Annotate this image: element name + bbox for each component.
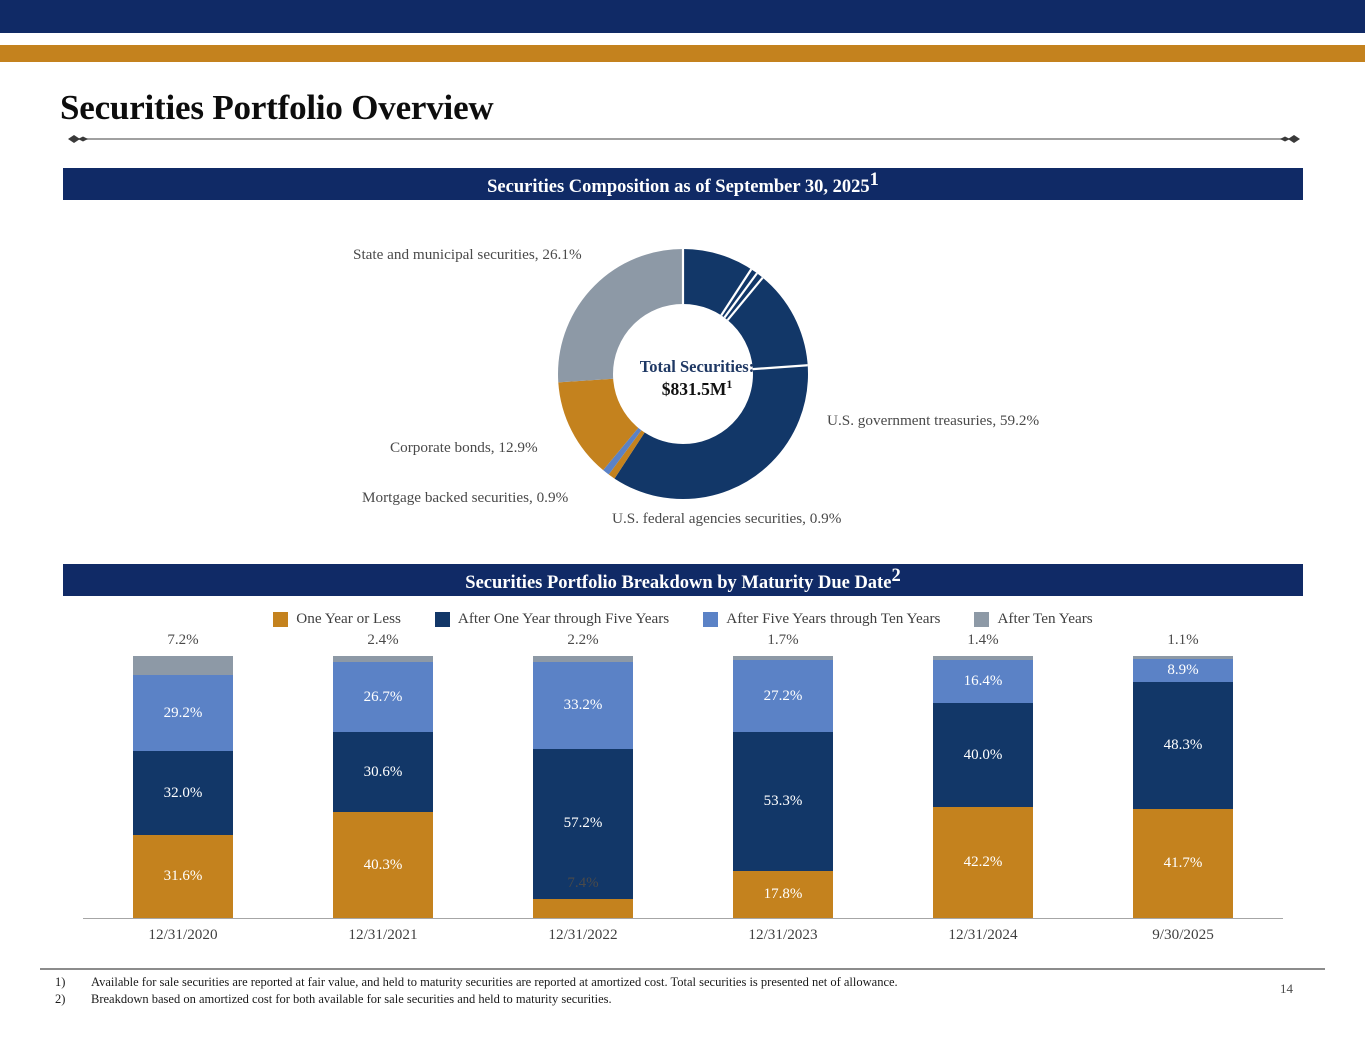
bar-segment-label-5-2: 8.9% [1167,662,1198,679]
footnote-2: 2)Breakdown based on amortized cost for … [55,992,1105,1007]
donut-label-us-federal-agencies-securities: U.S. federal agencies securities, 0.9% [612,510,841,528]
bar-segment-label-4-2: 16.4% [964,673,1003,690]
page-number: 14 [1280,981,1293,997]
stacked-bar-0: 7.2%29.2%32.0%31.6% [133,656,233,918]
footnote-marker-1: 1 [870,170,879,190]
bar-segment-1-1[interactable]: 30.6% [333,732,433,812]
title-divider-rule [68,133,1300,145]
bar-segment-3-0[interactable]: 17.8% [733,871,833,918]
bar-column-5[interactable]: 1.1%8.9%48.3%41.7% [1083,630,1283,918]
legend-label-0: One Year or Less [296,610,401,628]
donut-center-value: $831.5M1 [627,377,767,400]
donut-label-us-government-treasuries: U.S. government treasuries, 59.2% [827,412,1039,430]
securities-composition-donut-chart: Total Securities: $831.5M1 State and mun… [0,230,1365,540]
bar-column-4[interactable]: 1.4%16.4%40.0%42.2% [883,630,1083,918]
legend-swatch-2 [703,612,718,627]
section-header-maturity: Securities Portfolio Breakdown by Maturi… [63,564,1303,596]
section-header-composition-label: Securities Composition as of September 3… [487,170,879,198]
legend-swatch-1 [435,612,450,627]
x-axis-line [83,918,1283,919]
x-axis-label-4: 12/31/2024 [883,926,1083,944]
bar-segment-0-2[interactable]: 29.2% [133,675,233,752]
bar-segment-label-1-1: 30.6% [364,764,403,781]
legend-swatch-0 [273,612,288,627]
top-gold-band [0,45,1365,62]
bar-segment-label-2-2: 33.2% [564,697,603,714]
x-axis-label-1: 12/31/2021 [283,926,483,944]
x-axis-label-5: 9/30/2025 [1083,926,1283,944]
stacked-bar-5: 1.1%8.9%48.3%41.7% [1133,656,1233,918]
bar-segment-label-5-0: 41.7% [1164,855,1203,872]
footnote-marker-1b: 1 [726,377,732,391]
bar-segment-3-1[interactable]: 53.3% [733,732,833,872]
bar-segment-1-2[interactable]: 26.7% [333,662,433,732]
x-axis-label-2: 12/31/2022 [483,926,683,944]
bar-segment-label-2-3: 2.2% [567,632,598,649]
bar-segment-2-0[interactable]: 7.4% [533,899,633,918]
donut-center-total: Total Securities: $831.5M1 [627,356,767,400]
legend-item-0[interactable]: One Year or Less [273,610,401,628]
bar-segment-label-0-2: 29.2% [164,705,203,722]
stacked-bar-3: 1.7%27.2%53.3%17.8% [733,656,833,918]
bar-segment-3-2[interactable]: 27.2% [733,660,833,731]
bar-segment-label-4-0: 42.2% [964,854,1003,871]
bar-segment-label-0-3: 7.2% [167,632,198,649]
x-axis-label-0: 12/31/2020 [83,926,283,944]
bar-segment-label-5-1: 48.3% [1164,737,1203,754]
bar-segment-label-0-1: 32.0% [164,785,203,802]
bar-segment-label-4-3: 1.4% [967,632,998,649]
bar-column-1[interactable]: 2.4%26.7%30.6%40.3% [283,630,483,918]
footnote-1: 1)Available for sale securities are repo… [55,975,1105,990]
top-navy-band [0,0,1365,33]
bar-segment-5-2[interactable]: 8.9% [1133,659,1233,682]
bar-segment-4-0[interactable]: 42.2% [933,807,1033,918]
stacked-bar-4: 1.4%16.4%40.0%42.2% [933,656,1033,918]
footnote-marker-2: 2 [891,566,900,586]
bar-column-3[interactable]: 1.7%27.2%53.3%17.8% [683,630,883,918]
bar-segment-label-3-1: 53.3% [764,793,803,810]
legend-item-3[interactable]: After Ten Years [974,610,1092,628]
bar-segment-5-0[interactable]: 41.7% [1133,809,1233,918]
stacked-bar-2: 2.2%33.2%57.2%7.4% [533,656,633,918]
maturity-chart-legend: One Year or LessAfter One Year through F… [63,609,1303,629]
section-header-composition: Securities Composition as of September 3… [63,168,1303,200]
legend-label-1: After One Year through Five Years [458,610,669,628]
bar-segment-label-2-0: 7.4% [567,875,598,892]
legend-item-1[interactable]: After One Year through Five Years [435,610,669,628]
bar-segment-0-0[interactable]: 31.6% [133,835,233,918]
bar-segment-label-1-3: 2.4% [367,632,398,649]
bar-segment-1-0[interactable]: 40.3% [333,812,433,918]
bar-segment-label-2-1: 57.2% [564,815,603,832]
bar-segment-0-3[interactable]: 7.2% [133,656,233,675]
bar-column-0[interactable]: 7.2%29.2%32.0%31.6% [83,630,283,918]
section-header-maturity-label: Securities Portfolio Breakdown by Maturi… [465,566,900,594]
stacked-bar-1: 2.4%26.7%30.6%40.3% [333,656,433,918]
footnote-number-1: 1) [55,975,91,990]
donut-label-corporate-bonds: Corporate bonds, 12.9% [390,439,538,457]
donut-center-caption: Total Securities: [627,356,767,377]
footer-divider [40,968,1325,970]
bar-segment-label-4-1: 40.0% [964,747,1003,764]
legend-item-2[interactable]: After Five Years through Ten Years [703,610,940,628]
maturity-breakdown-bar-chart: 7.2%29.2%32.0%31.6%2.4%26.7%30.6%40.3%2.… [0,630,1365,955]
donut-label-state-and-municipal-securities: State and municipal securities, 26.1% [353,246,582,264]
footnote-text-1: Available for sale securities are report… [91,975,898,990]
footnote-number-2: 2) [55,992,91,1007]
bar-segment-label-1-2: 26.7% [364,689,403,706]
bar-segment-4-1[interactable]: 40.0% [933,703,1033,808]
donut-label-mortgage-backed-securities: Mortgage backed securities, 0.9% [362,489,568,507]
bar-segment-label-0-0: 31.6% [164,868,203,885]
bar-segment-4-2[interactable]: 16.4% [933,660,1033,703]
legend-swatch-3 [974,612,989,627]
bar-segment-0-1[interactable]: 32.0% [133,751,233,835]
bar-segment-label-1-0: 40.3% [364,857,403,874]
legend-label-2: After Five Years through Ten Years [726,610,940,628]
bar-segment-5-1[interactable]: 48.3% [1133,682,1233,809]
footnote-text-2: Breakdown based on amortized cost for bo… [91,992,612,1007]
bar-column-2[interactable]: 2.2%33.2%57.2%7.4% [483,630,683,918]
bar-segment-label-3-0: 17.8% [764,886,803,903]
legend-label-3: After Ten Years [997,610,1092,628]
bar-segment-label-3-3: 1.7% [767,632,798,649]
bar-segment-2-2[interactable]: 33.2% [533,662,633,749]
x-axis-label-3: 12/31/2023 [683,926,883,944]
bar-segment-label-5-3: 1.1% [1167,632,1198,649]
footnotes-list: 1)Available for sale securities are repo… [55,975,1105,1009]
bar-segment-label-3-2: 27.2% [764,688,803,705]
page-title: Securities Portfolio Overview [60,88,494,128]
